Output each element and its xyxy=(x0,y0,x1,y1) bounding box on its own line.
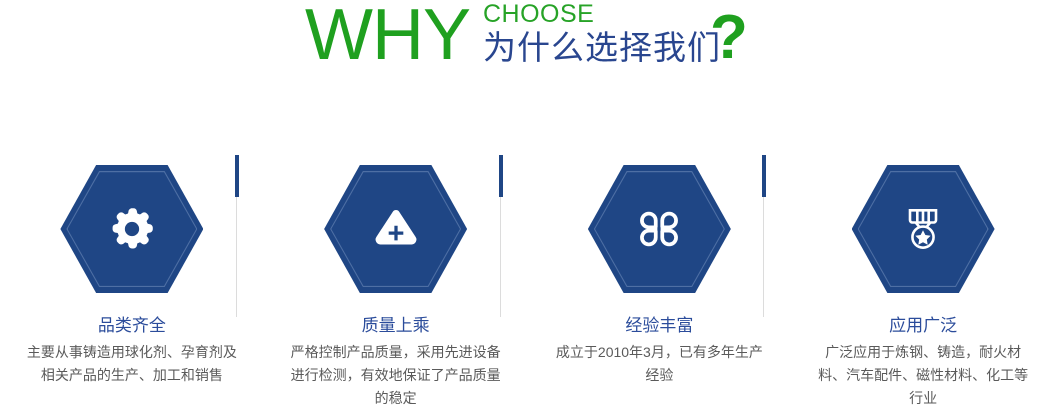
feature-card[interactable]: 质量上乘 严格控制产品质量，采用先进设备进行检测，有效地保证了产品质量的稳定 xyxy=(264,150,528,416)
hexagon-badge xyxy=(60,165,203,293)
card-divider-accent xyxy=(762,155,766,197)
feature-card-content: 应用广泛 广泛应用于炼钢、铸造，耐火材料、汽车配件、磁性材料、化工等行业 xyxy=(791,150,1055,410)
four-petal-icon xyxy=(633,203,685,255)
hexagon-badge xyxy=(852,165,995,293)
card-divider-accent xyxy=(235,155,239,197)
feature-card[interactable]: 应用广泛 广泛应用于炼钢、铸造，耐火材料、汽车配件、磁性材料、化工等行业 xyxy=(791,150,1055,416)
feature-card[interactable]: 品类齐全 主要从事铸造用球化剂、孕育剂及相关产品的生产、加工和销售 xyxy=(0,150,264,416)
card-divider xyxy=(499,155,503,317)
medal-icon xyxy=(897,203,949,255)
hexagon-badge xyxy=(588,165,731,293)
feature-cards-row: 品类齐全 主要从事铸造用球化剂、孕育剂及相关产品的生产、加工和销售 质量上乘 严… xyxy=(0,150,1055,416)
page-header: WHY CHOOSE 为什么选择我们 ? xyxy=(0,0,1055,96)
card-divider-line xyxy=(236,197,237,317)
card-divider-accent xyxy=(499,155,503,197)
header-choose-word: CHOOSE xyxy=(483,1,594,27)
header-why-word: WHY xyxy=(305,0,470,74)
header-text-group: WHY CHOOSE 为什么选择我们 ? xyxy=(305,0,765,96)
feature-card-title: 质量上乘 xyxy=(362,315,430,337)
triangle-plus-icon xyxy=(370,203,422,255)
feature-card-description: 广泛应用于炼钢、铸造，耐火材料、汽车配件、磁性材料、化工等行业 xyxy=(814,341,1032,410)
hexagon-badge xyxy=(324,165,467,293)
header-question-mark: ? xyxy=(710,5,748,71)
feature-card-description: 成立于2010年3月，已有多年生产经验 xyxy=(550,341,768,387)
card-divider xyxy=(235,155,239,317)
feature-card-content: 经验丰富 成立于2010年3月，已有多年生产经验 xyxy=(528,150,792,387)
card-divider-line xyxy=(500,197,501,317)
gear-icon xyxy=(106,203,158,255)
card-divider xyxy=(762,155,766,317)
feature-card-title: 品类齐全 xyxy=(98,315,166,337)
header-chinese-headline: 为什么选择我们 xyxy=(483,29,721,67)
card-divider-line xyxy=(763,197,764,317)
feature-card-title: 应用广泛 xyxy=(889,315,957,337)
feature-card-content: 质量上乘 严格控制产品质量，采用先进设备进行检测，有效地保证了产品质量的稳定 xyxy=(264,150,528,410)
feature-card-title: 经验丰富 xyxy=(625,315,693,337)
feature-card[interactable]: 经验丰富 成立于2010年3月，已有多年生产经验 xyxy=(528,150,792,416)
feature-card-description: 严格控制产品质量，采用先进设备进行检测，有效地保证了产品质量的稳定 xyxy=(287,341,505,410)
feature-card-content: 品类齐全 主要从事铸造用球化剂、孕育剂及相关产品的生产、加工和销售 xyxy=(0,150,264,387)
feature-card-description: 主要从事铸造用球化剂、孕育剂及相关产品的生产、加工和销售 xyxy=(23,341,241,387)
